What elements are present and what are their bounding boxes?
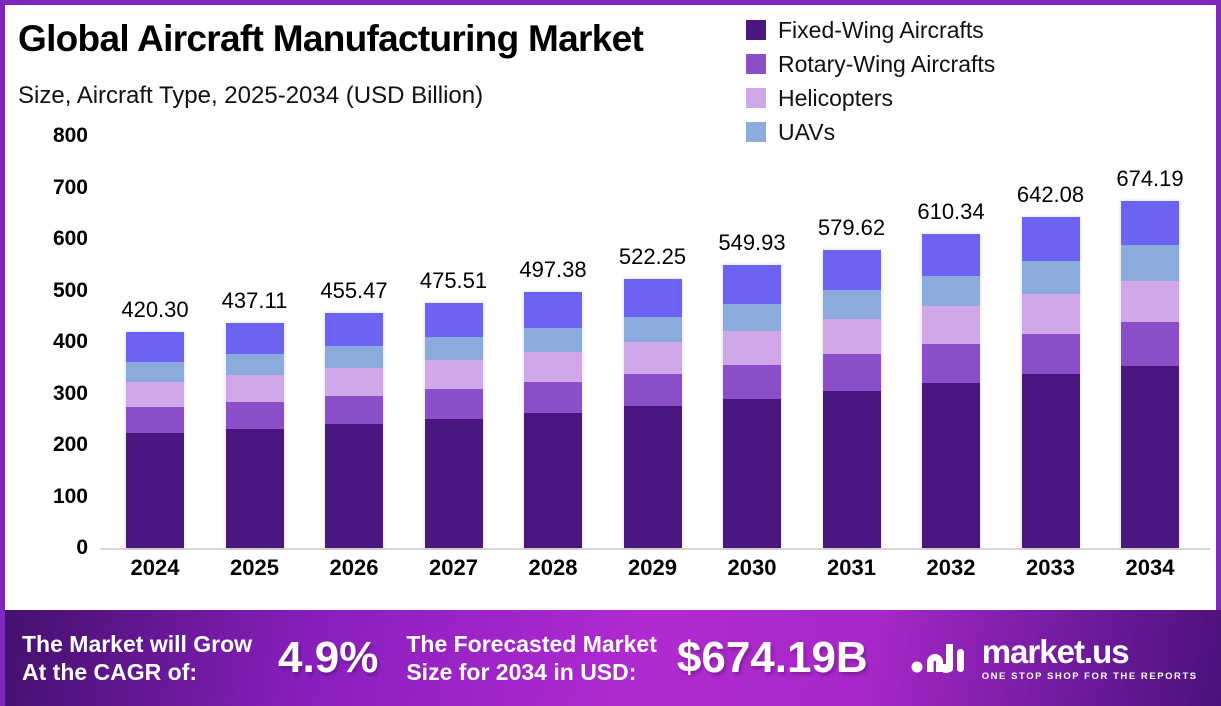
bar-segment[interactable] (922, 234, 980, 276)
bar-segment[interactable] (723, 331, 781, 365)
bar-segment[interactable] (624, 374, 682, 406)
bar-segment[interactable] (1121, 201, 1179, 245)
x-axis-tick-label: 2029 (603, 555, 703, 581)
bar-segment[interactable] (524, 352, 582, 382)
logo-tagline: ONE STOP SHOP FOR THE REPORTS (982, 671, 1198, 682)
x-axis-tick-label: 2030 (702, 555, 802, 581)
y-axis-tick-label: 500 (8, 279, 88, 303)
bar-segment[interactable] (226, 354, 284, 375)
legend-item[interactable]: Rotary-Wing Aircrafts (746, 47, 995, 81)
bar-group[interactable]: 420.30 (126, 332, 184, 548)
cagr-label: The Market will Grow At the CAGR of: (22, 630, 252, 686)
y-axis-tick-label: 600 (8, 227, 88, 251)
bar-value-label: 475.51 (420, 268, 487, 294)
bar-segment[interactable] (425, 419, 483, 548)
bar-group[interactable]: 475.51 (425, 303, 483, 548)
bar-value-label: 455.47 (320, 278, 387, 304)
bar-segment[interactable] (922, 276, 980, 307)
bar-segment[interactable] (524, 328, 582, 352)
bar-segment[interactable] (325, 424, 383, 548)
bar-group[interactable]: 674.19 (1121, 201, 1179, 548)
bar-segment[interactable] (1022, 261, 1080, 294)
cagr-label-line2: At the CAGR of: (22, 659, 197, 685)
bar-segment[interactable] (226, 402, 284, 429)
bar-value-label: 420.30 (121, 297, 188, 323)
bar-segment[interactable] (126, 433, 184, 548)
bar-segment[interactable] (226, 375, 284, 402)
bar-segment[interactable] (922, 383, 980, 548)
x-axis-tick-label: 2027 (404, 555, 504, 581)
legend-swatch-icon (746, 20, 766, 40)
y-axis-tick-label: 800 (8, 124, 88, 148)
cagr-label-line1: The Market will Grow (22, 631, 252, 657)
bar-segment[interactable] (1121, 245, 1179, 281)
y-axis-tick-label: 100 (8, 485, 88, 509)
bar-segment[interactable] (1022, 217, 1080, 261)
bar-segment[interactable] (723, 399, 781, 548)
legend-item-label: Helicopters (778, 85, 893, 112)
bar-stack (425, 303, 483, 548)
bar-value-label: 674.19 (1116, 166, 1183, 192)
bar-stack (325, 313, 383, 548)
bar-segment[interactable] (723, 265, 781, 304)
bar-value-label: 610.34 (917, 199, 984, 225)
chart-infographic: Global Aircraft Manufacturing Market Siz… (0, 0, 1221, 706)
bar-segment[interactable] (325, 346, 383, 368)
bottom-banner: The Market will Grow At the CAGR of: 4.9… (5, 610, 1221, 706)
bar-stack (226, 323, 284, 548)
x-axis-tick-label: 2028 (503, 555, 603, 581)
x-axis-tick-label: 2033 (1001, 555, 1101, 581)
x-axis-tick-label: 2024 (105, 555, 205, 581)
bar-segment[interactable] (126, 332, 184, 363)
bar-segment[interactable] (524, 413, 582, 548)
logo-text: market.us ONE STOP SHOP FOR THE REPORTS (982, 635, 1198, 682)
bar-segment[interactable] (723, 304, 781, 331)
y-axis-tick-label: 200 (8, 433, 88, 457)
bar-segment[interactable] (226, 323, 284, 354)
bar-segment[interactable] (425, 337, 483, 360)
x-axis-tick-label: 2026 (304, 555, 404, 581)
bar-segment[interactable] (1121, 322, 1179, 365)
bar-value-label: 497.38 (519, 257, 586, 283)
bar-value-label: 579.62 (818, 215, 885, 241)
bar-segment[interactable] (126, 362, 184, 382)
bar-segment[interactable] (1022, 374, 1080, 548)
bar-segment[interactable] (126, 382, 184, 408)
bar-stack (1121, 201, 1179, 548)
bar-segment[interactable] (823, 250, 881, 290)
bar-group[interactable]: 642.08 (1022, 217, 1080, 548)
bar-value-label: 549.93 (718, 230, 785, 256)
legend-item-label: Rotary-Wing Aircrafts (778, 51, 995, 78)
bar-segment[interactable] (226, 429, 284, 548)
plot-area: 0100200300400500600700800 420.30437.1145… (5, 123, 1221, 615)
y-axis-tick-label: 400 (8, 330, 88, 354)
forecast-label-line2: Size for 2034 in USD: (406, 659, 636, 685)
bar-segment[interactable] (922, 306, 980, 344)
x-axis-tick-label: 2032 (901, 555, 1001, 581)
bar-series-container: 420.30437.11455.47475.51497.38522.25549.… (100, 123, 1210, 548)
bar-group[interactable]: 437.11 (226, 323, 284, 548)
bar-segment[interactable] (425, 360, 483, 389)
bar-stack (723, 265, 781, 548)
bar-segment[interactable] (624, 279, 682, 317)
bar-segment[interactable] (823, 391, 881, 548)
x-axis-tick-label: 2034 (1100, 555, 1200, 581)
bar-group[interactable]: 455.47 (325, 313, 383, 548)
y-axis-tick-label: 700 (8, 176, 88, 200)
bar-segment[interactable] (524, 292, 582, 328)
x-axis-line (100, 548, 1210, 550)
bar-group[interactable]: 522.25 (624, 279, 682, 548)
bar-segment[interactable] (524, 382, 582, 413)
logo-wordmark: market.us (982, 635, 1198, 668)
forecast-value: $674.19B (677, 633, 868, 683)
forecast-label: The Forecasted Market Size for 2034 in U… (406, 630, 657, 686)
page-subtitle: Size, Aircraft Type, 2025-2034 (USD Bill… (18, 82, 483, 110)
bar-segment[interactable] (823, 290, 881, 319)
bar-segment[interactable] (425, 303, 483, 337)
x-axis-tick-label: 2031 (802, 555, 902, 581)
bar-stack (823, 250, 881, 548)
legend-swatch-icon (746, 88, 766, 108)
bar-group[interactable]: 610.34 (922, 234, 980, 548)
y-axis-tick-label: 0 (8, 536, 88, 560)
bar-segment[interactable] (823, 319, 881, 355)
bar-stack (1022, 217, 1080, 548)
bar-segment[interactable] (325, 396, 383, 424)
bar-segment[interactable] (624, 406, 682, 548)
x-axis-tick-label: 2025 (205, 555, 305, 581)
bar-stack (922, 234, 980, 548)
market-us-logo[interactable]: market.us ONE STOP SHOP FOR THE REPORTS (910, 635, 1198, 682)
legend-swatch-icon (746, 54, 766, 74)
forecast-label-line1: The Forecasted Market (406, 631, 657, 657)
bar-segment[interactable] (1121, 281, 1179, 323)
bar-segment[interactable] (1022, 334, 1080, 375)
bar-segment[interactable] (624, 317, 682, 342)
market-us-logo-mark (910, 636, 972, 680)
bar-segment[interactable] (922, 344, 980, 383)
bar-stack (624, 279, 682, 548)
legend-item[interactable]: Helicopters (746, 81, 995, 115)
bar-segment[interactable] (823, 354, 881, 391)
bar-segment[interactable] (1022, 294, 1080, 334)
bar-segment[interactable] (1121, 366, 1179, 548)
bar-group[interactable]: 579.62 (823, 250, 881, 548)
bar-segment[interactable] (325, 313, 383, 346)
bar-group[interactable]: 549.93 (723, 265, 781, 548)
legend-item[interactable]: Fixed-Wing Aircrafts (746, 13, 995, 47)
bar-segment[interactable] (624, 342, 682, 374)
bar-value-label: 437.11 (222, 288, 288, 314)
bar-segment[interactable] (425, 389, 483, 418)
bar-group[interactable]: 497.38 (524, 292, 582, 548)
bar-segment[interactable] (126, 407, 184, 433)
bar-value-label: 522.25 (619, 244, 686, 270)
bar-stack (524, 292, 582, 548)
bar-value-label: 642.08 (1017, 182, 1084, 208)
page-title: Global Aircraft Manufacturing Market (18, 18, 643, 60)
bar-stack (126, 332, 184, 548)
bar-segment[interactable] (325, 368, 383, 396)
bar-segment[interactable] (723, 365, 781, 400)
y-axis-tick-label: 300 (8, 382, 88, 406)
header: Global Aircraft Manufacturing Market Siz… (5, 5, 1221, 123)
legend-item-label: Fixed-Wing Aircrafts (778, 17, 984, 44)
cagr-value: 4.9% (278, 633, 378, 683)
